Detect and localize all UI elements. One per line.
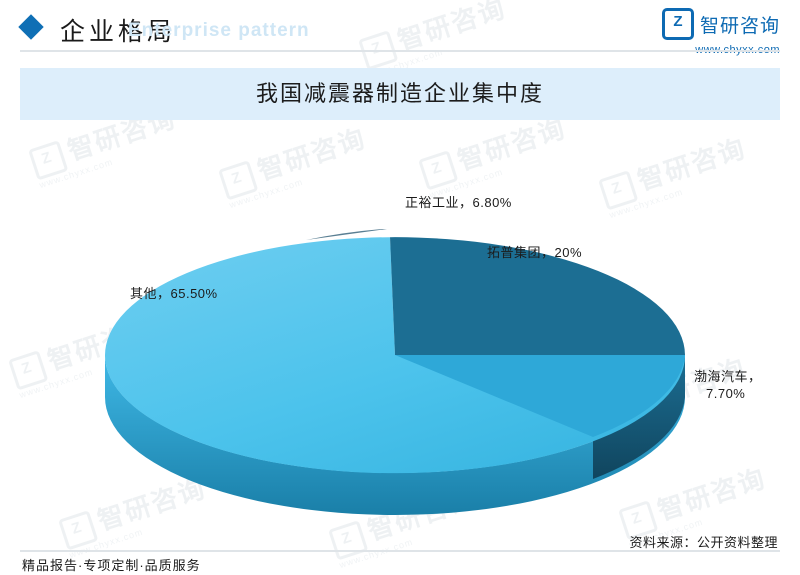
label-bohai-line1: 渤海汽车， <box>694 366 762 385</box>
diamond-icon <box>18 14 43 39</box>
label-tuopu: 拓普集团，20% <box>487 242 582 261</box>
watermark-badge-icon: Z <box>58 510 98 550</box>
brand-logo: Z 智研咨询 www.chyxx.com <box>662 8 780 56</box>
watermark-badge-icon: Z <box>328 520 368 560</box>
page-header: Enterprise pattern 企业格局 Z 智研咨询 www.chyxx… <box>0 0 800 56</box>
chart-title-band: 我国减震器制造企业集中度 <box>20 68 780 120</box>
source-note: 资料来源：公开资料整理 <box>629 532 778 551</box>
section-subtitle: Enterprise pattern <box>128 20 310 42</box>
logo-name: 智研咨询 <box>700 11 780 38</box>
label-zhengyu: 正裕工业，6.80% <box>405 192 512 211</box>
header-divider <box>20 50 780 52</box>
label-qita: 其他，65.50% <box>130 283 218 302</box>
pie-graphic <box>95 205 715 505</box>
logo-badge-icon: Z <box>662 8 694 40</box>
footer-slogan: 精品报告·专项定制·品质服务 <box>22 555 201 574</box>
pie-chart: 正裕工业，6.80% 拓普集团，20% 其他，65.50% 渤海汽车， 7.70… <box>0 120 800 510</box>
chart-title: 我国减震器制造企业集中度 <box>20 68 780 120</box>
footer-divider <box>20 550 780 552</box>
pie-svg <box>95 205 715 505</box>
label-bohai-line2: 7.70% <box>706 386 745 401</box>
